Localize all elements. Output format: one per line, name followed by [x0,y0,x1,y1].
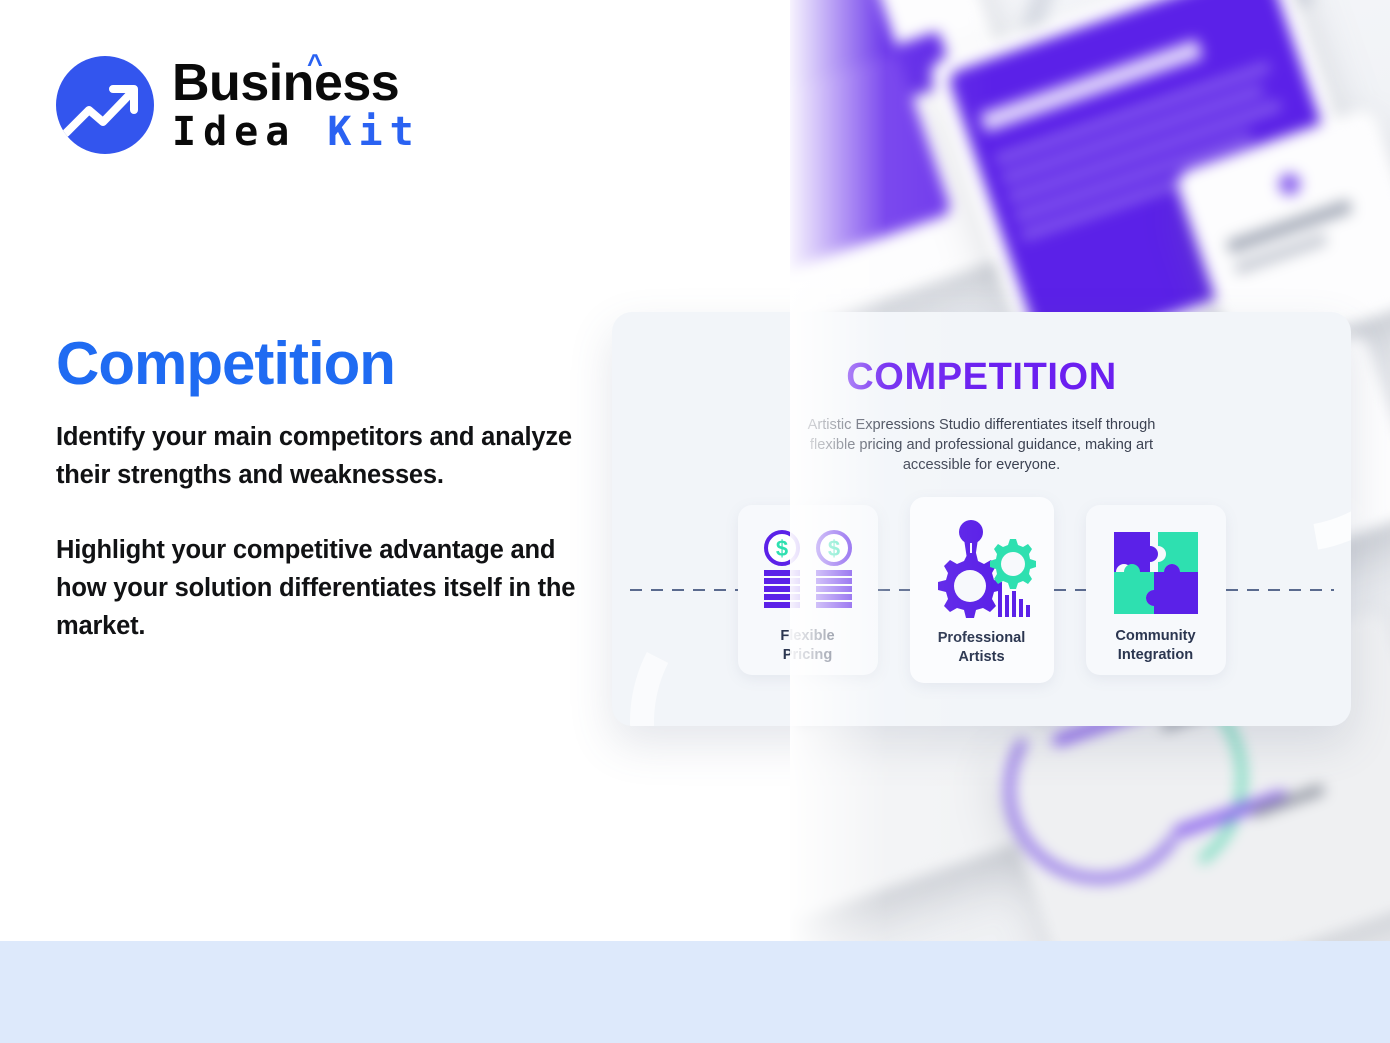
brand-name-line1-text: Business [172,54,399,112]
brand-caret-accent-icon: ^ [307,51,322,79]
svg-text:$: $ [827,536,839,561]
body-paragraph-2: Highlight your competitive advantage and… [56,531,576,646]
competition-slide-card: COMPETITION Artistic Expressions Studio … [612,312,1351,726]
connector-dash-right [1226,589,1334,591]
page-title: Competition [56,334,395,394]
svg-text:$: $ [775,536,787,561]
puzzle-pieces-icon [1110,527,1202,619]
feature-label-line2: Pricing [780,646,834,665]
gears-lightbulb-chart-icon [926,517,1038,621]
connector-dash-mid-right [1054,589,1086,591]
brand-name-kit: Kit [327,109,420,155]
feature-card-community-integration[interactable]: Community Integration [1086,505,1226,675]
feature-label-community-integration: Community Integration [1115,627,1195,665]
brand-name-idea: Idea [172,109,296,155]
feature-label-line1: Community [1115,627,1195,646]
brand-name-line2: Idea Kit [172,111,421,153]
feature-label-line2: Artists [938,648,1026,667]
card-title: COMPETITION [612,356,1351,399]
bottom-accent-band [0,941,1390,1043]
coin-stacks-icon: $ $ [756,527,860,619]
connector-dash-mid-left [878,589,910,591]
connector-dash-left [630,589,738,591]
left-panel: Business ^ Idea Kit Competition Identify… [0,0,620,941]
feature-card-professional-artists[interactable]: Professional Artists [910,497,1054,683]
growth-arrow-circle-icon [56,56,154,154]
feature-row: $ $ [612,497,1351,683]
page-body-copy: Identify your main competitors and analy… [56,418,576,645]
feature-label-professional-artists: Professional Artists [938,629,1026,667]
feature-label-flexible-pricing: Flexible Pricing [780,627,834,665]
brand-logo[interactable]: Business ^ Idea Kit [56,56,421,154]
feature-label-line2: Integration [1115,646,1195,665]
feature-label-line1: Professional [938,629,1026,648]
card-subtitle: Artistic Expressions Studio differentiat… [792,415,1172,475]
body-paragraph-1: Identify your main competitors and analy… [56,418,576,495]
feature-card-flexible-pricing[interactable]: $ $ [738,505,878,675]
brand-name-line1: Business ^ [172,57,399,110]
feature-label-line1: Flexible [780,627,834,646]
